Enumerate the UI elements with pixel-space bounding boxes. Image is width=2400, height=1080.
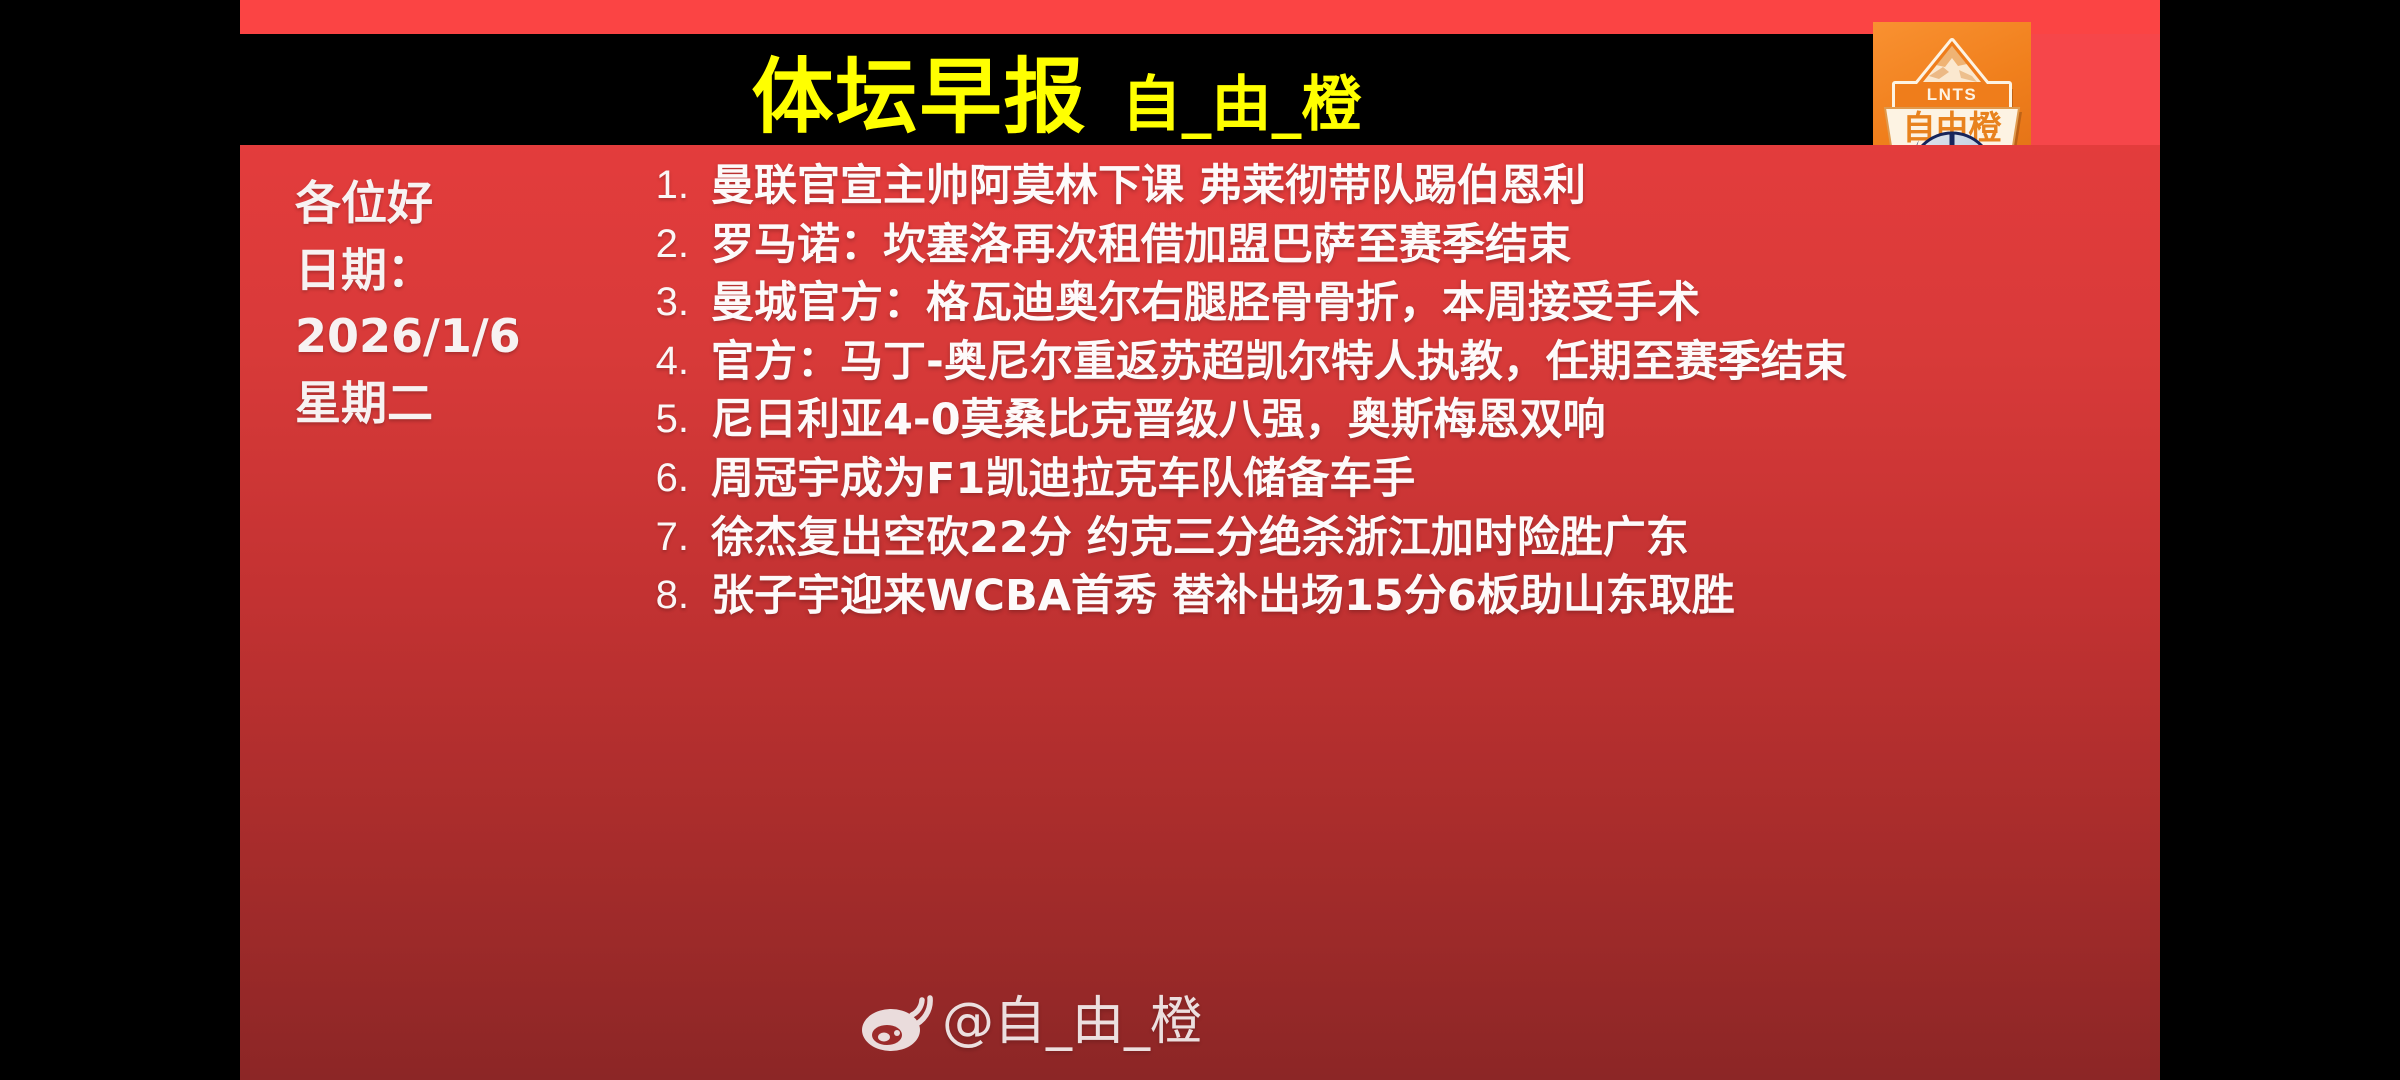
list-item: 4. 官方：马丁-奥尼尔重返苏超凯尔特人执教，任期至赛季结束	[645, 335, 2135, 390]
greeting-block: 各位好 日期： 2026/1/6 星期二	[295, 170, 555, 437]
date-value: 2026/1/6	[295, 303, 555, 370]
svg-text:LNTS: LNTS	[1927, 85, 1977, 104]
news-list: 1. 曼联官宣主帅阿莫林下课 弗莱彻带队踢伯恩利 2. 罗马诺：坎塞洛再次租借加…	[645, 159, 2135, 628]
list-item-number: 7.	[645, 511, 711, 564]
list-item-number: 3.	[645, 276, 711, 329]
list-item-number: 8.	[645, 569, 711, 622]
list-item: 5. 尼日利亚4-0莫桑比克晋级八强，奥斯梅恩双响	[645, 393, 2135, 448]
list-item-number: 4.	[645, 335, 711, 388]
list-item: 8. 张子宇迎来WCBA首秀 替补出场15分6板助山东取胜	[645, 569, 2135, 624]
header-title-group: 体坛早报 自_由_橙	[240, 34, 1873, 145]
screenshot-root: 体坛早报 自_由_橙	[0, 0, 2400, 1080]
list-item-text: 曼联官宣主帅阿莫林下课 弗莱彻带队踢伯恩利	[711, 159, 2135, 214]
list-item: 7. 徐杰复出空砍22分 约克三分绝杀浙江加时险胜广东	[645, 511, 2135, 566]
list-item-text: 罗马诺：坎塞洛再次租借加盟巴萨至赛季结束	[711, 218, 2135, 273]
date-label: 日期：	[295, 237, 555, 304]
content-card: 体坛早报 自_由_橙	[240, 0, 2160, 1080]
list-item-text: 周冠宇成为F1凯迪拉克车队储备车手	[711, 452, 2135, 507]
list-item-number: 5.	[645, 393, 711, 446]
greeting-line: 各位好	[295, 170, 555, 237]
list-item: 2. 罗马诺：坎塞洛再次租借加盟巴萨至赛季结束	[645, 218, 2135, 273]
weibo-handle: @自_由_橙	[942, 996, 1202, 1048]
list-item-text: 尼日利亚4-0莫桑比克晋级八强，奥斯梅恩双响	[711, 393, 2135, 448]
list-item: 6. 周冠宇成为F1凯迪拉克车队储备车手	[645, 452, 2135, 507]
weibo-icon	[860, 990, 938, 1054]
list-item-text: 曼城官方：格瓦迪奥尔右腿胫骨骨折，本周接受手术	[711, 276, 2135, 331]
weibo-watermark: @自_由_橙	[860, 990, 1202, 1054]
page-title: 体坛早报	[751, 57, 1087, 139]
list-item: 1. 曼联官宣主帅阿莫林下课 弗莱彻带队踢伯恩利	[645, 159, 2135, 214]
page-title-handle: 自_由_橙	[1122, 75, 1362, 139]
list-item-text: 徐杰复出空砍22分 约克三分绝杀浙江加时险胜广东	[711, 511, 2135, 566]
weekday: 星期二	[295, 370, 555, 437]
list-item-number: 1.	[645, 159, 711, 212]
list-item-number: 6.	[645, 452, 711, 505]
list-item-text: 张子宇迎来WCBA首秀 替补出场15分6板助山东取胜	[711, 569, 2135, 624]
top-red-strip	[240, 0, 2160, 34]
content-body: 各位好 日期： 2026/1/6 星期二 1. 曼联官宣主帅阿莫林下课 弗莱彻带…	[240, 145, 2160, 1080]
list-item-number: 2.	[645, 218, 711, 271]
list-item-text: 官方：马丁-奥尼尔重返苏超凯尔特人执教，任期至赛季结束	[711, 335, 2135, 390]
list-item: 3. 曼城官方：格瓦迪奥尔右腿胫骨骨折，本周接受手术	[645, 276, 2135, 331]
